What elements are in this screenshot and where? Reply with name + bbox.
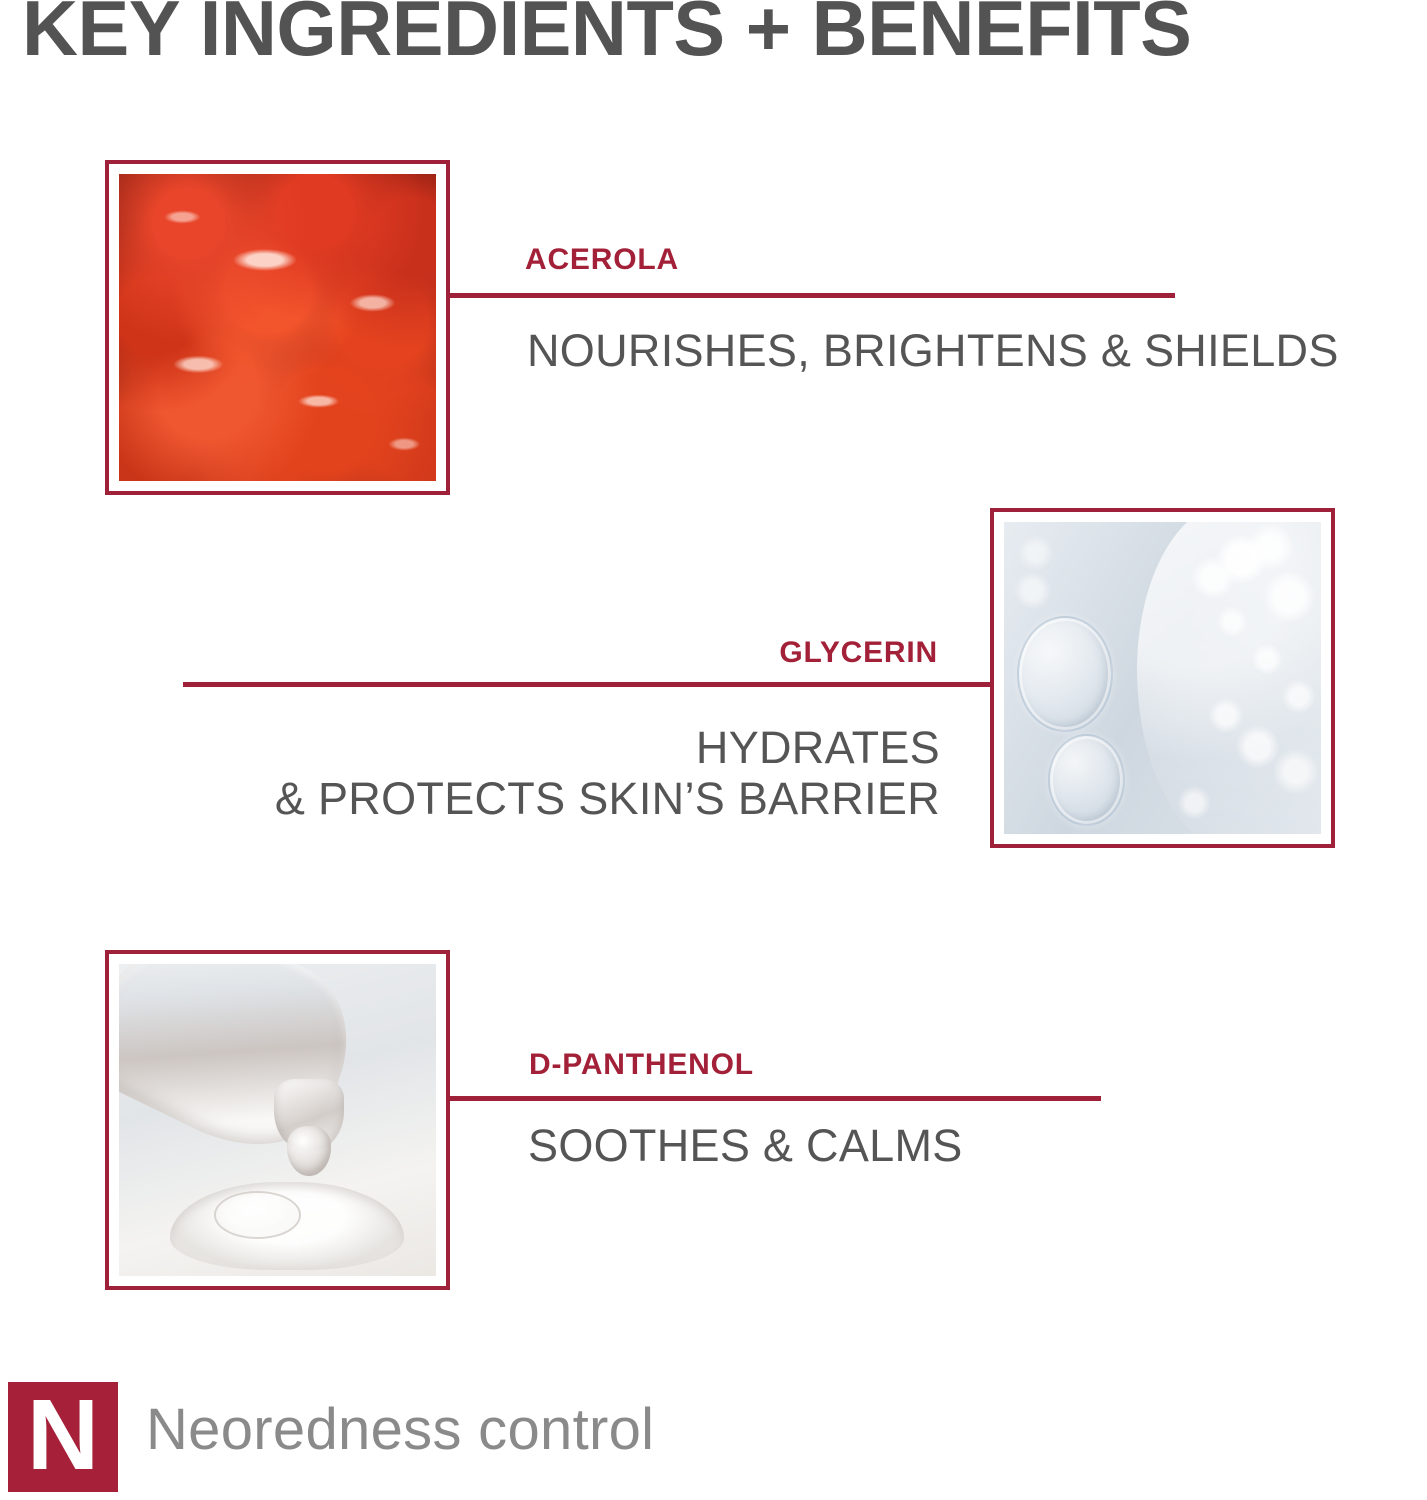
ingredient-benefit-acerola: NOURISHES, BRIGHTENS & SHIELDS — [527, 325, 1387, 376]
divider-acerola — [447, 293, 1175, 298]
glycerin-bubbles-photo — [1004, 522, 1321, 834]
ingredient-benefit-glycerin: HYDRATES & PROTECTS SKIN’S BARRIER — [233, 722, 940, 825]
foam-shape — [1137, 522, 1321, 834]
ingredient-image-acerola — [105, 160, 450, 495]
droplet-shape — [287, 1126, 331, 1176]
bubble-large-icon — [1017, 616, 1113, 732]
dropper-serum-droplet-photo — [119, 964, 436, 1276]
brand-logo-mark: N — [8, 1382, 118, 1492]
puddle-ring-shape — [214, 1191, 300, 1239]
ingredient-image-d-panthenol — [105, 950, 450, 1290]
bubble-small-icon — [1048, 734, 1125, 825]
ingredient-label-d-panthenol: D-PANTHENOL — [529, 1048, 754, 1082]
ingredient-image-glycerin — [990, 508, 1335, 848]
page-title: KEY INGREDIENTS + BENEFITS — [22, 0, 1415, 70]
divider-glycerin — [183, 682, 993, 687]
acerola-cherries-photo — [119, 174, 436, 481]
ingredient-label-glycerin: GLYCERIN — [333, 636, 938, 670]
divider-d-panthenol — [447, 1096, 1101, 1101]
brand-name: Neoredness control — [146, 1396, 654, 1463]
ingredient-benefit-d-panthenol: SOOTHES & CALMS — [528, 1120, 1388, 1171]
pipette-shape — [119, 964, 377, 1177]
ingredient-label-acerola: ACEROLA — [525, 243, 679, 277]
